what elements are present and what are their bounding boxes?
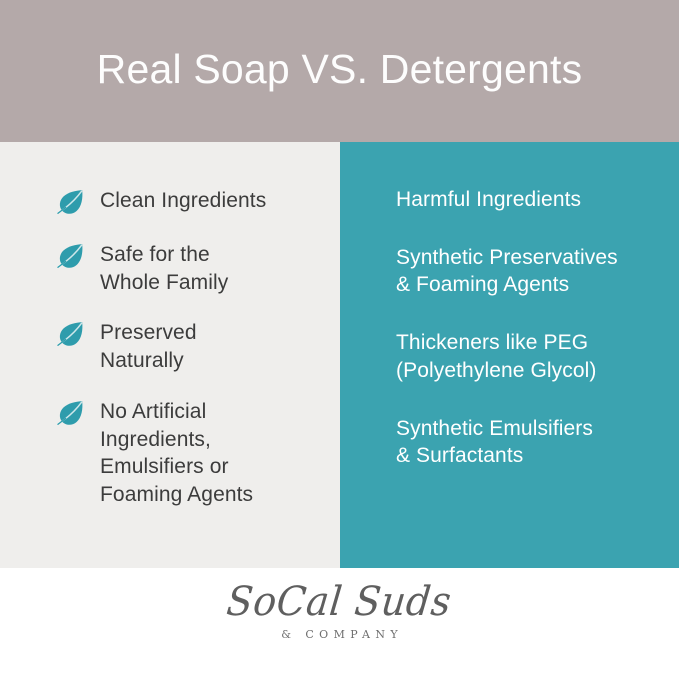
header-band: Real Soap VS. Detergents [0, 0, 679, 142]
real-soap-column: Clean Ingredients Safe for the Whole Fam… [0, 142, 340, 568]
list-item-label: Synthetic Preservatives & Foaming Agents [396, 246, 618, 297]
brand-logo-wordmark: SoCal Suds [225, 581, 453, 621]
brand-logo-subtitle: & COMPANY [276, 629, 403, 640]
list-item: Clean Ingredients [56, 186, 326, 218]
list-item: Preserved Naturally [56, 318, 326, 374]
list-item-label: Safe for the Whole Family [100, 240, 228, 296]
list-item-label: Harmful Ingredients [396, 188, 581, 211]
detergents-column: Harmful Ingredients Synthetic Preservati… [340, 142, 679, 568]
list-item: Harmful Ingredients [396, 186, 663, 214]
leaf-icon [56, 188, 86, 218]
drawback-list: Harmful Ingredients Synthetic Preservati… [396, 186, 663, 470]
footer-area: SoCal Suds & COMPANY [0, 568, 679, 679]
list-item-label: No Artificial Ingredients, Emulsifiers o… [100, 397, 253, 509]
leaf-icon [56, 320, 86, 350]
list-item: Synthetic Preservatives & Foaming Agents [396, 244, 663, 299]
leaf-icon [56, 242, 86, 272]
list-item-label: Preserved Naturally [100, 318, 197, 374]
list-item: Thickeners like PEG (Polyethylene Glycol… [396, 329, 663, 384]
leaf-icon [56, 399, 86, 429]
list-item-label: Thickeners like PEG (Polyethylene Glycol… [396, 331, 597, 382]
benefit-list: Clean Ingredients Safe for the Whole Fam… [56, 186, 326, 509]
list-item: Synthetic Emulsifiers & Surfactants [396, 415, 663, 470]
list-item-label: Clean Ingredients [100, 186, 266, 215]
list-item-label: Synthetic Emulsifiers & Surfactants [396, 417, 593, 468]
page-title: Real Soap VS. Detergents [97, 49, 583, 94]
infographic-root: Real Soap VS. Detergents Clean Ingredien… [0, 0, 679, 679]
list-item: No Artificial Ingredients, Emulsifiers o… [56, 397, 326, 509]
list-item: Safe for the Whole Family [56, 240, 326, 296]
comparison-body: Clean Ingredients Safe for the Whole Fam… [0, 142, 679, 568]
